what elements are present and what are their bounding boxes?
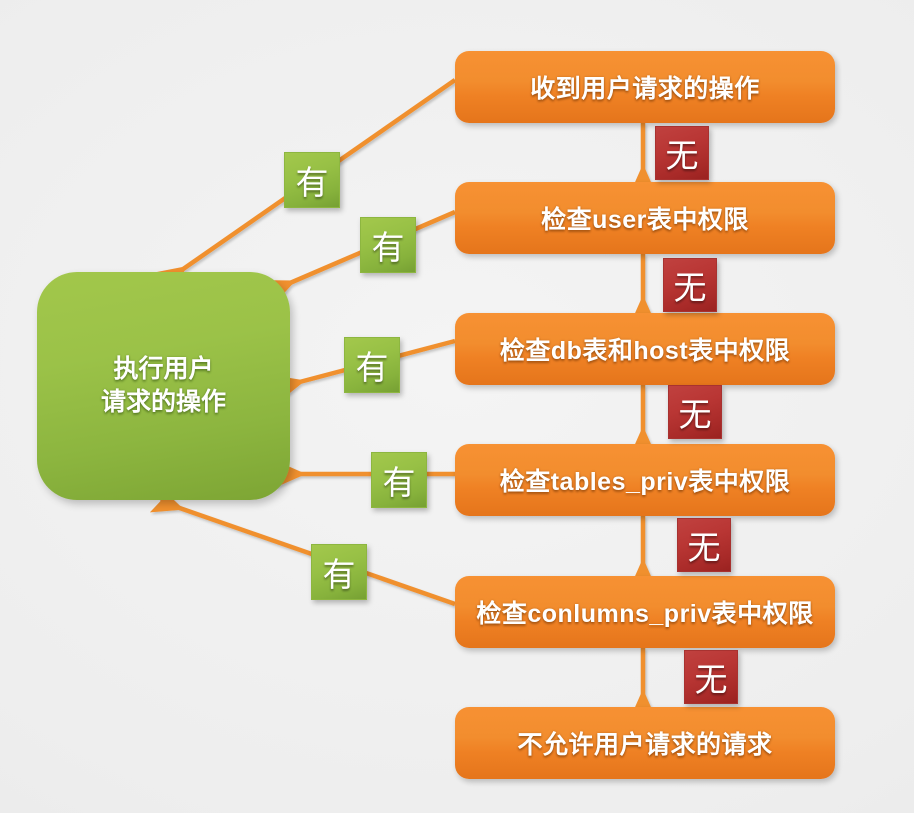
flowchart-canvas: 执行用户 请求的操作 收到用户请求的操作 检查user表中权限 检查db表和ho… xyxy=(0,0,914,813)
edge-label-no-2: 无 xyxy=(663,258,717,312)
process-box-receive-request[interactable]: 收到用户请求的操作 xyxy=(455,51,835,123)
terminal-node-line-2: 请求的操作 xyxy=(101,386,226,419)
process-box-check-columns-priv[interactable]: 检查conlumns_priv表中权限 xyxy=(455,576,835,648)
edge-label-yes-1: 有 xyxy=(284,152,340,208)
process-box-deny-request[interactable]: 不允许用户请求的请求 xyxy=(455,707,835,779)
edge-label-yes-3: 有 xyxy=(344,337,400,393)
edge-label-yes-4: 有 xyxy=(371,452,427,508)
terminal-node-execute-request[interactable]: 执行用户 请求的操作 xyxy=(37,272,290,500)
edge-label-no-4: 无 xyxy=(677,518,731,572)
edge-label-yes-5: 有 xyxy=(311,544,367,600)
edge-label-no-3: 无 xyxy=(668,385,722,439)
edge-label-no-5: 无 xyxy=(684,650,738,704)
process-box-check-tables-priv[interactable]: 检查tables_priv表中权限 xyxy=(455,444,835,516)
process-box-check-db-host-table[interactable]: 检查db表和host表中权限 xyxy=(455,313,835,385)
process-box-check-user-table[interactable]: 检查user表中权限 xyxy=(455,182,835,254)
terminal-node-line-1: 执行用户 xyxy=(113,353,213,386)
edge-label-no-1: 无 xyxy=(655,126,709,180)
edge-label-yes-2: 有 xyxy=(360,217,416,273)
